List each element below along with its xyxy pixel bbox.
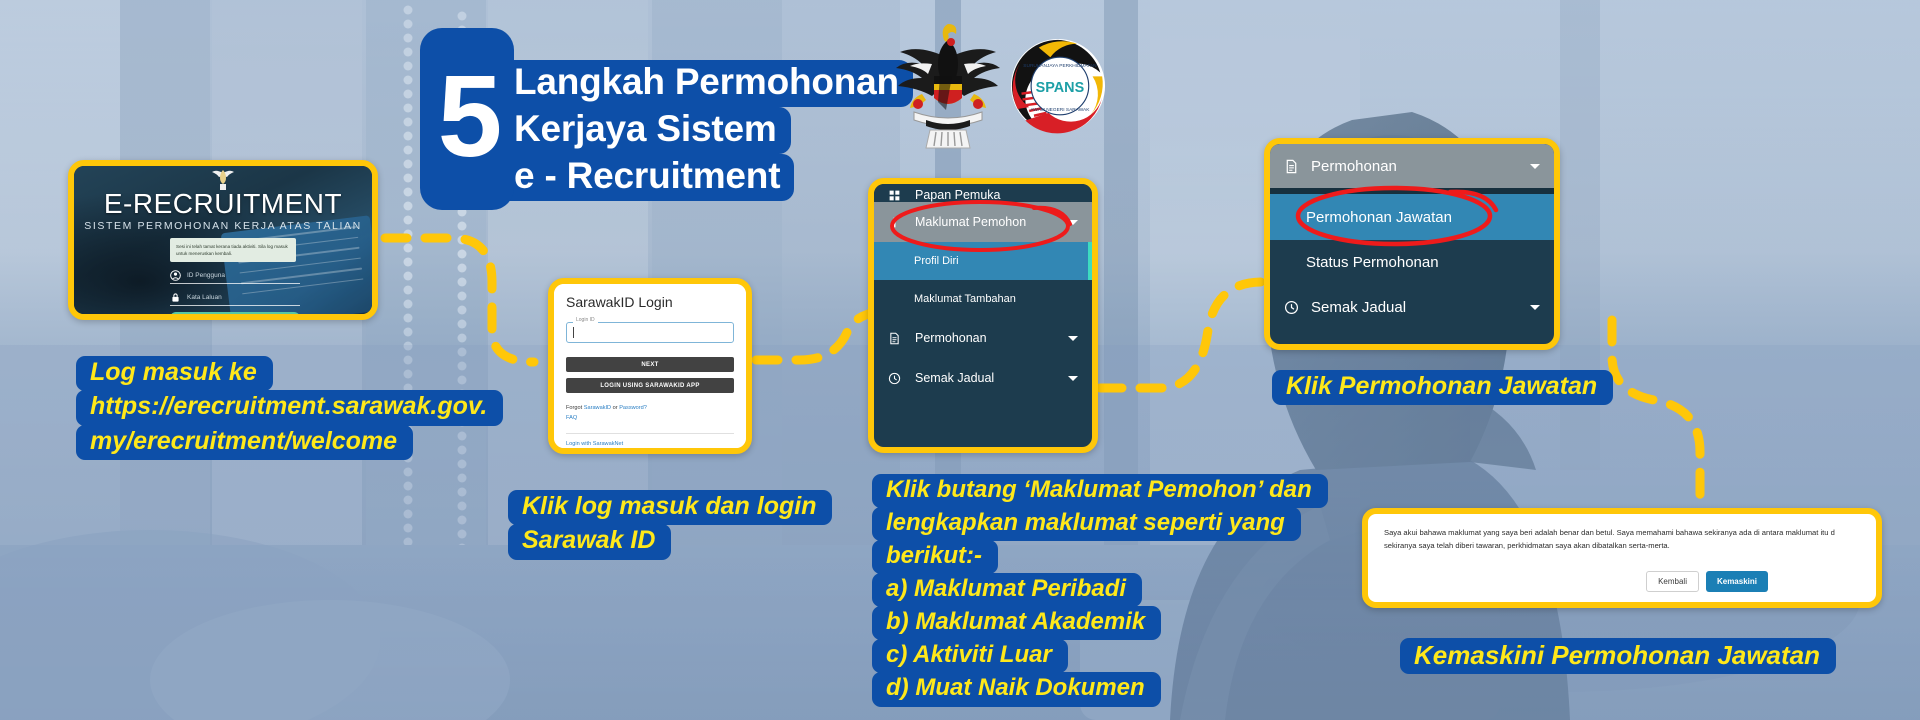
session-expired-alert: Sesi ini telah tamat kerana tiada aktivi… (170, 238, 296, 262)
forgot-password-link[interactable]: Password? (619, 405, 647, 411)
caption-4-line-1: Klik Permohonan Jawatan (1272, 370, 1613, 405)
erecruitment-subtitle: SISTEM PERMOHONAN KERJA ATAS TALIAN (74, 220, 372, 232)
chevron-down-icon (1068, 376, 1078, 381)
divider (566, 433, 734, 434)
title-line-1: Langkah Permohonan (500, 60, 913, 107)
kembali-button[interactable]: Kembali (1646, 571, 1699, 592)
declaration-line-1: Saya akui bahawa maklumat yang saya beri… (1384, 527, 1860, 540)
caption-3-line-6: c) Aktiviti Luar (872, 639, 1068, 673)
sidebar-item-semak-jadual[interactable]: Semak Jadual (1270, 284, 1554, 330)
password-field[interactable]: Kata Laluan (170, 290, 300, 306)
caption-step-1: Log masuk ke https://erecruitment.sarawa… (76, 356, 503, 459)
sidebar-item-permohonan[interactable]: Permohonan (874, 318, 1092, 358)
title-line-2: Kerjaya Sistem (500, 107, 791, 154)
login-using-app-button[interactable]: LOGIN USING SARAWAKID APP (566, 378, 734, 393)
caption-2-line-1: Klik log masuk dan login (508, 490, 832, 525)
caption-3-line-2: lengkapkan maklumat seperti yang (872, 507, 1301, 541)
jata-sarawak-logo (888, 20, 1008, 150)
screenshot-kemaskini-dialog[interactable]: Saya akui bahawa maklumat yang saya beri… (1362, 508, 1882, 608)
sidebar-label-semak-jadual: Semak Jadual (915, 371, 1060, 385)
step-count-badge: 5 (420, 28, 514, 210)
caption-2-line-2: Sarawak ID (508, 524, 671, 559)
info-icon (888, 216, 903, 229)
step-count-number: 5 (438, 58, 501, 174)
forgot-prefix: Forgot (566, 405, 584, 411)
chevron-down-icon (1530, 305, 1540, 310)
help-links: Forgot SarawakID or Password? FAQ (566, 403, 734, 424)
next-button[interactable]: NEXT (566, 357, 734, 372)
lock-icon (170, 292, 181, 303)
kemaskini-button[interactable]: Kemaskini (1706, 571, 1768, 592)
login-id-label: Login ID (573, 317, 598, 323)
username-field[interactable]: ID Pengguna (170, 268, 300, 284)
sidebar-item-status-permohonan[interactable]: Status Permohonan (1270, 240, 1554, 284)
caption-3-line-4: a) Maklumat Peribadi (872, 573, 1142, 607)
caption-1-line-2: https://erecruitment.sarawak.gov. (76, 390, 503, 425)
sidebar-label-profil-diri: Profil Diri (914, 255, 1078, 267)
caption-3-line-1: Klik butang ‘Maklumat Pemohon’ dan (872, 474, 1328, 508)
sidebar-label-maklumat-pemohon: Maklumat Pemohon (915, 215, 1060, 229)
forgot-sarawakid-link[interactable]: SarawakID (584, 405, 611, 411)
sidebar-label-permohonan: Permohonan (915, 331, 1060, 345)
forgot-mid: or (611, 405, 619, 411)
caption-step-5: Kemaskini Permohonan Jawatan (1400, 638, 1836, 673)
screenshot-maklumat-pemohon-menu[interactable]: Papan Pemuka Maklumat Pemohon Profil Dir… (868, 178, 1098, 453)
sidebar-label-semak-jadual: Semak Jadual (1311, 299, 1522, 316)
sidebar-item-semak-jadual[interactable]: Semak Jadual (874, 358, 1092, 398)
svg-text:AWAM NEGERI SARAWAK: AWAM NEGERI SARAWAK (1030, 107, 1090, 113)
chevron-down-icon (1530, 164, 1540, 169)
sidebar-item-permohonan-jawatan[interactable]: Permohonan Jawatan (1270, 194, 1554, 240)
svg-text:SURUHANJAYA PERKHIDMATAN: SURUHANJAYA PERKHIDMATAN (1023, 63, 1097, 69)
caption-step-3: Klik butang ‘Maklumat Pemohon’ dan lengk… (872, 474, 1328, 706)
register-row: Don't have an account yet? REGISTER NOW (566, 453, 734, 454)
chevron-down-icon (1068, 336, 1078, 341)
screenshot-permohonan-menu[interactable]: Permohonan Permohonan Jawatan Status Per… (1264, 138, 1560, 350)
text-caret (573, 327, 574, 338)
caption-1-line-1: Log masuk ke (76, 356, 273, 391)
document-icon (888, 332, 903, 345)
declaration-line-2: sekiranya saya telah diberi tawaran, per… (1384, 540, 1860, 553)
username-placeholder: ID Pengguna (187, 272, 225, 279)
faq-link[interactable]: FAQ (566, 415, 577, 421)
title-lines: Langkah Permohonan Kerjaya Sistem e - Re… (500, 60, 913, 201)
caption-step-2: Klik log masuk dan login Sarawak ID (508, 490, 832, 559)
clock-icon (1284, 300, 1299, 315)
screenshot-erecruitment-login[interactable]: E-RECRUITMENT SISTEM PERMOHONAN KERJA AT… (68, 160, 378, 320)
chevron-down-icon (1068, 220, 1078, 225)
sarawakid-title: SarawakID Login (566, 294, 734, 310)
sidebar-item-permohonan[interactable]: Permohonan (1270, 144, 1554, 188)
sidebar-label-maklumat-tambahan: Maklumat Tambahan (914, 293, 1078, 305)
sarawaknet-login-link[interactable]: Login with SarawakNet (566, 441, 734, 447)
erecruitment-title: E-RECRUITMENT (74, 188, 372, 220)
login-id-group: Login ID (566, 322, 734, 343)
clock-icon (888, 372, 903, 385)
caption-5-line-1: Kemaskini Permohonan Jawatan (1400, 638, 1836, 674)
caption-3-line-3: berikut:- (872, 540, 998, 574)
sidebar-item-profil-diri[interactable]: Profil Diri (874, 242, 1092, 280)
active-accent-bar (1088, 242, 1092, 280)
sidebar-label-status-permohonan: Status Permohonan (1306, 254, 1540, 271)
password-placeholder: Kata Laluan (187, 294, 222, 301)
screenshot-sarawakid-login[interactable]: SarawakID Login Login ID NEXT LOGIN USIN… (548, 278, 752, 454)
register-now-button[interactable]: REGISTER NOW (673, 453, 735, 454)
log-masuk-button[interactable]: Log Masuk (170, 312, 300, 320)
svg-text:SPANS: SPANS (1036, 80, 1085, 96)
sidebar-item-maklumat-tambahan[interactable]: Maklumat Tambahan (874, 280, 1092, 318)
infographic-title: 5 Langkah Permohonan Kerjaya Sistem e - … (420, 28, 913, 210)
spans-logo: SURUHANJAYA PERKHIDMATAN AWAM NEGERI SAR… (1010, 38, 1106, 134)
caption-3-line-5: b) Maklumat Akademik (872, 606, 1161, 640)
caption-step-4: Klik Permohonan Jawatan (1272, 370, 1613, 404)
sidebar-label-permohonan: Permohonan (1311, 158, 1522, 175)
caption-1-line-3: my/erecruitment/welcome (76, 425, 413, 460)
caption-3-line-7: d) Muat Naik Dokumen (872, 672, 1161, 706)
user-circle-icon (170, 270, 181, 281)
login-id-input[interactable] (566, 322, 734, 343)
title-line-3: e - Recruitment (500, 154, 794, 201)
sidebar-label-permohonan-jawatan: Permohonan Jawatan (1306, 209, 1540, 226)
sidebar-label-papan-pemuka: Papan Pemuka (915, 188, 1078, 202)
document-icon (1284, 159, 1299, 174)
